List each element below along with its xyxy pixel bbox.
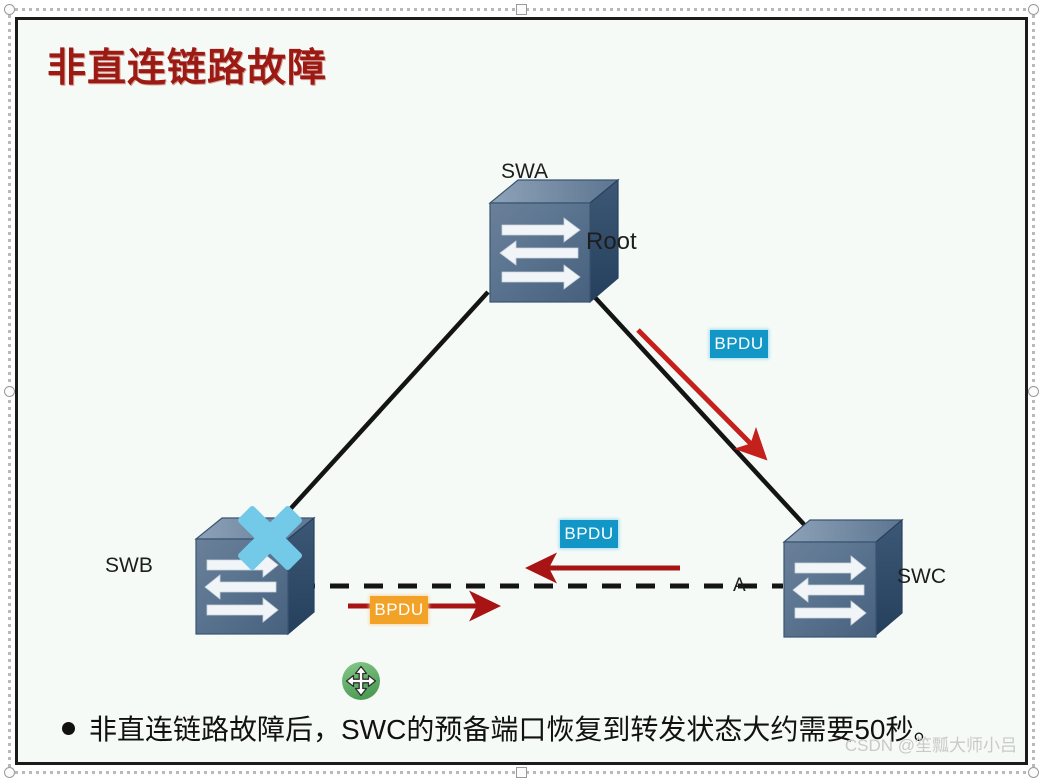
switch-swc[interactable]: [784, 520, 902, 637]
resize-handle-top-left[interactable]: [4, 4, 15, 15]
node-label-swb: SWB: [105, 554, 153, 578]
resize-handle-middle-right[interactable]: [1028, 386, 1039, 397]
node-label-swc: SWC: [897, 565, 946, 589]
port-label-a: A: [733, 575, 746, 597]
link-swa-swc: [590, 292, 811, 532]
node-label-swa: SWA: [501, 160, 548, 184]
bpdu-label-swc-swb: BPDU: [560, 520, 618, 548]
bullet-line: 非直连链路故障后，SWC的预备端口恢复到转发状态大约需要50秒。: [62, 708, 941, 748]
node-label-root: Root: [586, 228, 637, 256]
resize-handle-bottom-center[interactable]: [516, 767, 527, 778]
move-cursor-icon[interactable]: [342, 662, 380, 700]
network-topology-diagram: SWA Root SWB SWC A BPDU BPDU BPDU: [18, 20, 1025, 762]
resize-handle-bottom-left[interactable]: [4, 767, 15, 778]
resize-handle-bottom-right[interactable]: [1028, 767, 1039, 778]
topology-svg: [18, 20, 1025, 762]
resize-handle-middle-left[interactable]: [4, 386, 15, 397]
resize-handle-top-right[interactable]: [1028, 4, 1039, 15]
link-swa-swb: [273, 292, 488, 528]
slide-canvas[interactable]: 非直连链路故障: [15, 17, 1028, 765]
bpdu-label-swb-swc: BPDU: [370, 596, 428, 624]
resize-handle-top-center[interactable]: [516, 4, 527, 15]
bullet-dot-icon: [62, 722, 75, 735]
bullet-text: 非直连链路故障后，SWC的预备端口恢复到转发状态大约需要50秒。: [89, 708, 941, 748]
bpdu-label-swa-swc: BPDU: [710, 330, 768, 358]
